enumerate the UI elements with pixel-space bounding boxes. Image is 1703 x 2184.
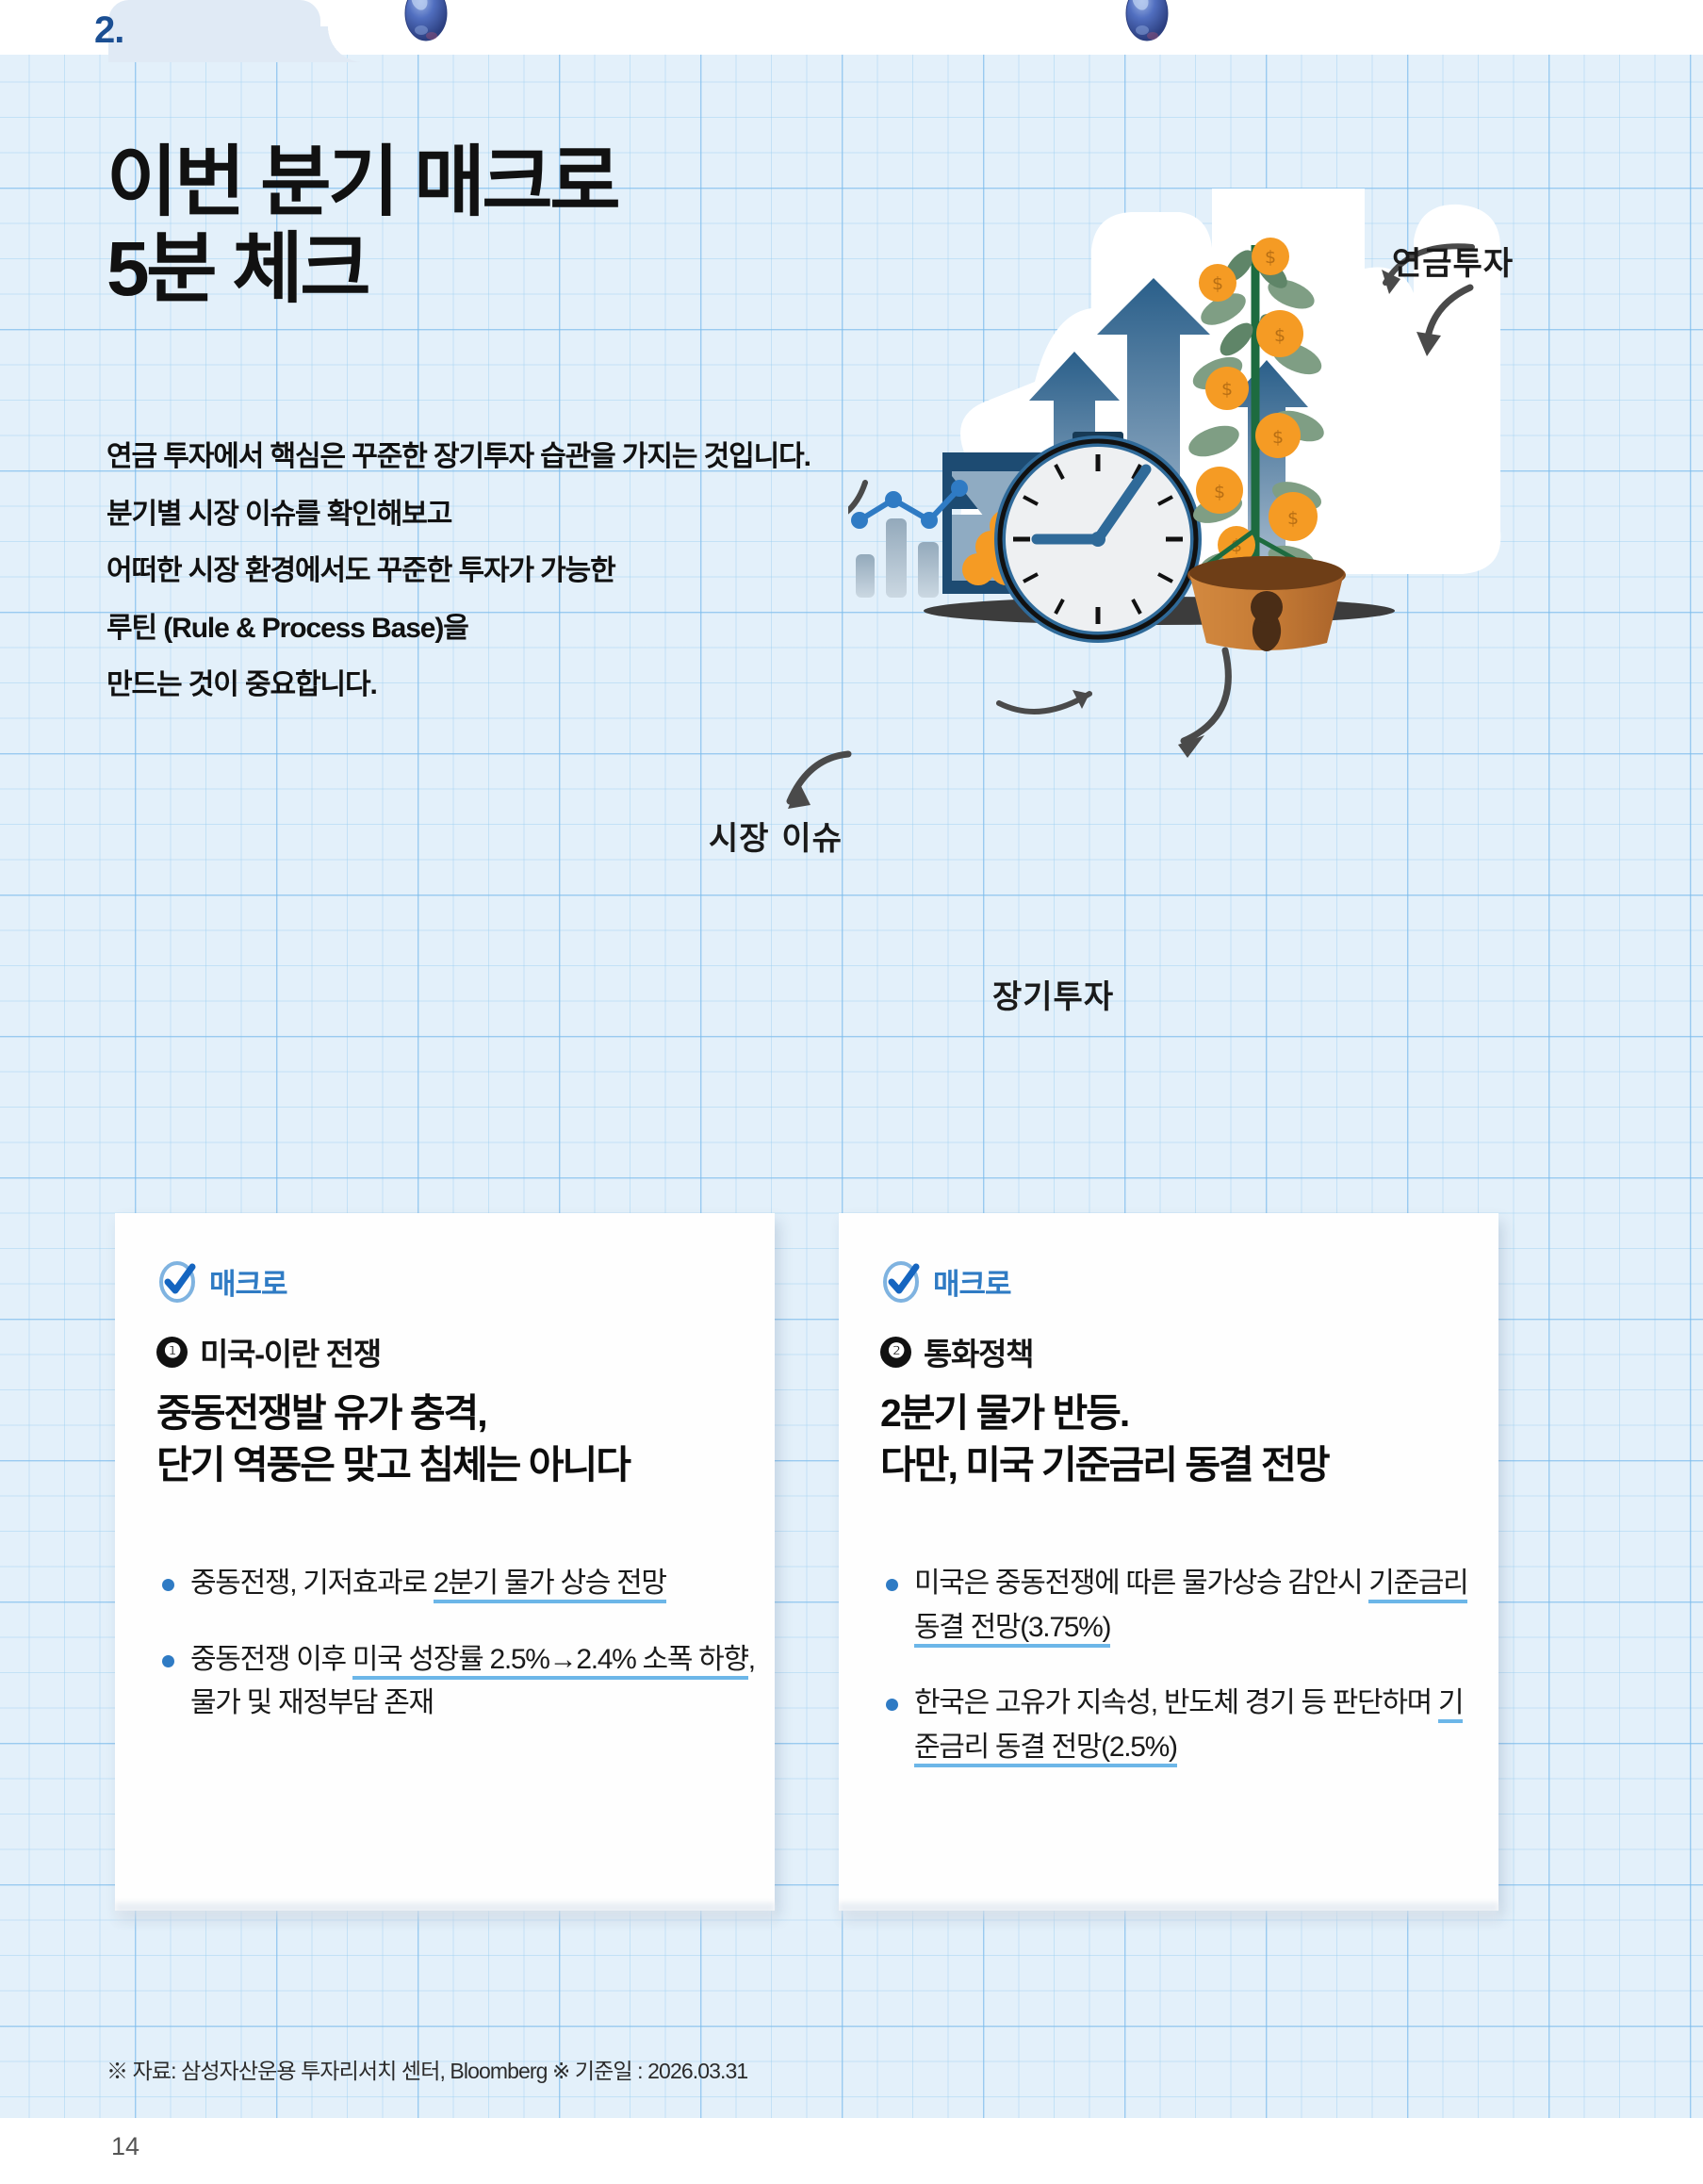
card-bullet-list: 중동전쟁, 기저효과로 2분기 물가 상승 전망 중동전쟁 이후 미국 성장률 … bbox=[156, 1562, 760, 1758]
svg-text:$: $ bbox=[1212, 273, 1223, 294]
section-tab bbox=[108, 0, 320, 62]
svg-text:$: $ bbox=[1274, 325, 1285, 346]
card-subtitle-row: ❷ 통화정책 bbox=[880, 1329, 1033, 1374]
flower-pot-icon bbox=[1187, 556, 1346, 651]
check-circle-icon bbox=[156, 1261, 198, 1303]
card-shadow bbox=[839, 1903, 1498, 1928]
label-pension-investment: 연금투자 bbox=[1392, 238, 1514, 284]
svg-text:$: $ bbox=[1272, 427, 1284, 448]
card-tag: 매크로 bbox=[880, 1260, 1011, 1303]
card-heading: 중동전쟁발 유가 충격, 단기 역풍은 맞고 침체는 아니다 bbox=[156, 1388, 750, 1490]
page-title: 이번 분기 매크로 5분 체크 bbox=[106, 140, 617, 313]
svg-text:$: $ bbox=[1214, 482, 1225, 502]
card-number-badge: ❷ bbox=[880, 1337, 911, 1368]
list-item: 미국은 중동전쟁에 따른 물가상승 감안시 기준금리 동결 전망(3.75%) bbox=[880, 1562, 1483, 1650]
check-circle-icon bbox=[880, 1261, 922, 1303]
page-bottom-margin bbox=[0, 2118, 1703, 2184]
bullet-text-pre: 중동전쟁 이후 bbox=[190, 1644, 352, 1675]
card-shadow bbox=[115, 1903, 775, 1928]
source-note: ※ 자료: 삼성자산운용 투자리서치 센터, Bloomberg ※ 기준일 :… bbox=[106, 2053, 747, 2085]
card-tag-label: 매크로 bbox=[209, 1260, 287, 1303]
bullet-text-pre: 미국은 중동전쟁에 따른 물가상승 감안시 bbox=[914, 1568, 1368, 1599]
bullet-text-pre: 중동전쟁, 기저효과로 bbox=[190, 1568, 434, 1599]
list-item: 중동전쟁 이후 미국 성장률 2.5%→2.4% 소폭 하향, 물가 및 재정부… bbox=[156, 1638, 760, 1726]
bullet-text-highlight: 2분기 물가 상승 전망 bbox=[434, 1568, 666, 1603]
card-subtitle: 통화정책 bbox=[924, 1329, 1033, 1374]
label-market-issue: 시장 이슈 bbox=[709, 813, 843, 859]
section-number: 2. bbox=[94, 9, 123, 52]
pushpin-icon bbox=[1122, 0, 1174, 47]
macro-card-2: 매크로 ❷ 통화정책 2분기 물가 반등. 다만, 미국 기준금리 동결 전망 … bbox=[839, 1213, 1498, 1911]
list-item: 중동전쟁, 기저효과로 2분기 물가 상승 전망 bbox=[156, 1562, 760, 1606]
card-heading: 2분기 물가 반등. 다만, 미국 기준금리 동결 전망 bbox=[880, 1388, 1474, 1490]
macro-card-1: 매크로 ❶ 미국-이란 전쟁 중동전쟁발 유가 충격, 단기 역풍은 맞고 침체… bbox=[115, 1213, 775, 1911]
card-tag-label: 매크로 bbox=[933, 1260, 1011, 1303]
svg-text:$: $ bbox=[1221, 379, 1233, 400]
page-number: 14 bbox=[111, 2132, 139, 2161]
svg-text:$: $ bbox=[1287, 508, 1299, 529]
bullet-text-pre: 한국은 고유가 지속성, 반도체 경기 등 판단하며 bbox=[914, 1687, 1438, 1718]
card-bullet-list: 미국은 중동전쟁에 따른 물가상승 감안시 기준금리 동결 전망(3.75%) … bbox=[880, 1562, 1483, 1801]
lead-paragraph: 연금 투자에서 핵심은 꾸준한 장기투자 습관을 가지는 것입니다. 분기별 시… bbox=[106, 429, 811, 714]
card-subtitle: 미국-이란 전쟁 bbox=[200, 1329, 381, 1374]
label-long-term-investment: 장기투자 bbox=[992, 971, 1114, 1017]
list-item: 한국은 고유가 지속성, 반도체 경기 등 판단하며 기준금리 동결 전망(2.… bbox=[880, 1682, 1483, 1769]
card-tag: 매크로 bbox=[156, 1260, 287, 1303]
card-number-badge: ❶ bbox=[156, 1337, 188, 1368]
svg-text:$: $ bbox=[1265, 247, 1276, 268]
card-subtitle-row: ❶ 미국-이란 전쟁 bbox=[156, 1329, 381, 1374]
bullet-text-highlight: 미국 성장률 2.5%→2.4% 소폭 하향 bbox=[352, 1644, 748, 1680]
pushpin-icon bbox=[401, 0, 453, 47]
